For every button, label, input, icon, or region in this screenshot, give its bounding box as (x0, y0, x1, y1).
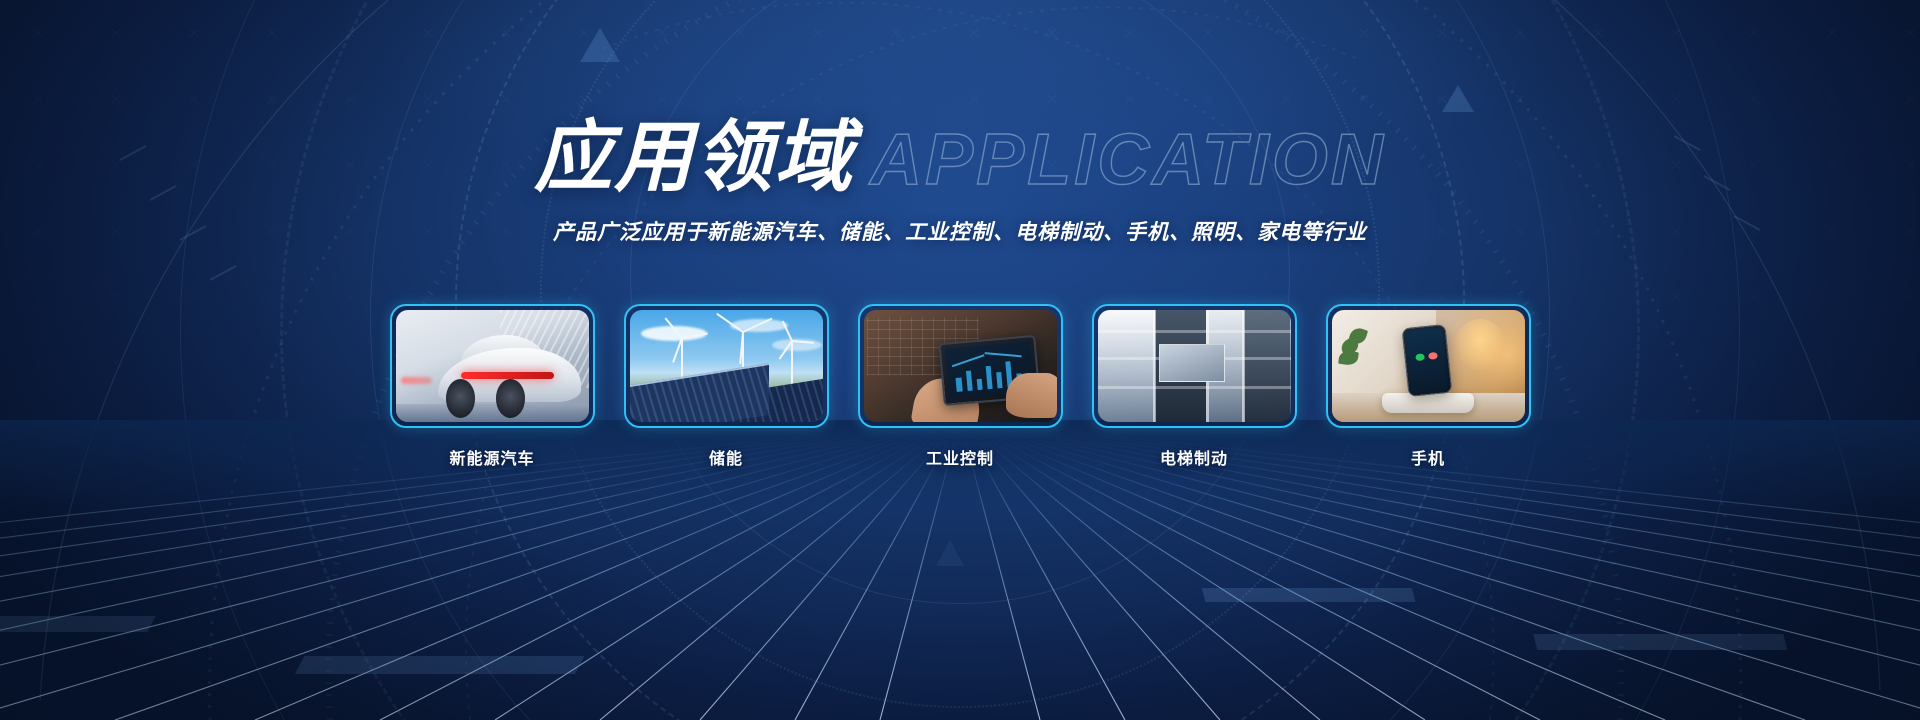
page-title-english: APPLICATION (870, 124, 1386, 196)
application-banner: 应用领域 APPLICATION 产品广泛应用于新能源汽车、储能、工业控制、电梯… (0, 0, 1920, 720)
banner-header: 应用领域 APPLICATION 产品广泛应用于新能源汽车、储能、工业控制、电梯… (0, 118, 1920, 246)
card-thumbnail-frame[interactable] (624, 304, 829, 428)
card-label: 工业控制 (926, 445, 994, 469)
smartphone-wireless-charger-photo (1332, 310, 1525, 422)
application-card-energy-storage[interactable]: 储能 (624, 304, 829, 469)
banner-subtitle: 产品广泛应用于新能源汽车、储能、工业控制、电梯制动、手机、照明、家电等行业 (0, 216, 1920, 246)
elevator-shaft-photo (1098, 310, 1291, 422)
card-label: 手机 (1411, 445, 1445, 469)
card-label: 新能源汽车 (449, 445, 534, 469)
card-label: 电梯制动 (1160, 445, 1228, 469)
card-thumbnail-frame[interactable] (1326, 304, 1531, 428)
solar-wind-energy-photo (630, 310, 823, 422)
industrial-control-tablet-photo (864, 310, 1057, 422)
application-card-industrial-control[interactable]: 工业控制 (858, 304, 1063, 469)
ev-car-photo (396, 310, 589, 422)
application-card-new-energy-vehicle[interactable]: 新能源汽车 (390, 304, 595, 469)
application-card-mobile-phone[interactable]: 手机 (1326, 304, 1531, 469)
application-card-list: 新能源汽车 (0, 304, 1920, 469)
title-row: 应用领域 APPLICATION (534, 118, 1386, 196)
card-thumbnail-frame[interactable] (390, 304, 595, 428)
card-label: 储能 (709, 445, 743, 469)
decor-ring-inner (630, 0, 1290, 604)
card-thumbnail-frame[interactable] (1092, 304, 1297, 428)
application-card-elevator-braking[interactable]: 电梯制动 (1092, 304, 1297, 469)
page-title: 应用领域 (534, 118, 854, 196)
card-thumbnail-frame[interactable] (858, 304, 1063, 428)
